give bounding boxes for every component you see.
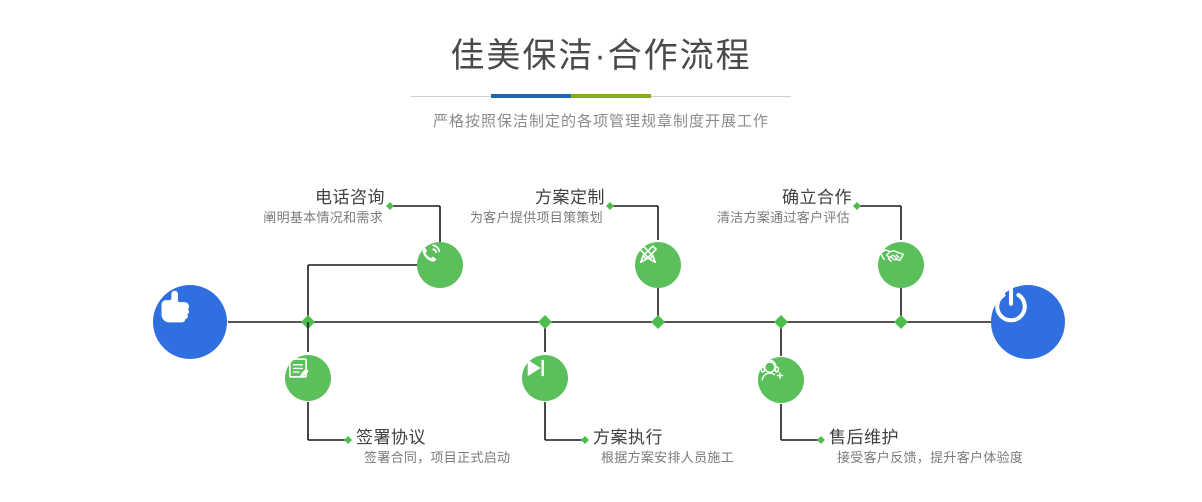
step-node-2[interactable] (285, 355, 331, 401)
step-node-4[interactable] (522, 355, 568, 401)
step-desc-6: 接受客户反馈，提升客户体验度 (829, 448, 1023, 467)
step-title-2: 签署协议 (356, 428, 510, 448)
step-title-5: 确立合作 (550, 188, 852, 208)
step-label-2: 签署协议 签署合同，项目正式启动 (356, 428, 510, 467)
step-label-5: 确立合作 清洁方案通过客户评估 (550, 188, 852, 227)
step-title-6: 售后维护 (829, 428, 1023, 448)
step-node-3[interactable] (635, 242, 681, 288)
step-desc-2: 签署合同，项目正式启动 (356, 448, 510, 467)
step-label-6: 售后维护 接受客户反馈，提升客户体验度 (829, 428, 1023, 467)
flow-end-node[interactable] (991, 285, 1065, 359)
step-label-4: 方案执行 根据方案安排人员施工 (593, 428, 734, 467)
flow-connectors (0, 0, 1202, 502)
step-desc-5: 清洁方案通过客户评估 (550, 208, 852, 227)
step-desc-4: 根据方案安排人员施工 (593, 448, 734, 467)
step-title-4: 方案执行 (593, 428, 734, 448)
step-node-6[interactable] (758, 357, 804, 403)
process-flow: 电话咨询 阐明基本情况和需求 方案定制 为客户提供项目策策划 确立合作 清洁方案… (0, 0, 1202, 502)
flow-start-node[interactable] (153, 285, 227, 359)
step-node-5[interactable] (878, 242, 924, 288)
step-node-1[interactable] (417, 242, 463, 288)
cooperation-process-infographic: 佳美保洁·合作流程 严格按照保洁制定的各项管理规章制度开展工作 (0, 0, 1202, 502)
